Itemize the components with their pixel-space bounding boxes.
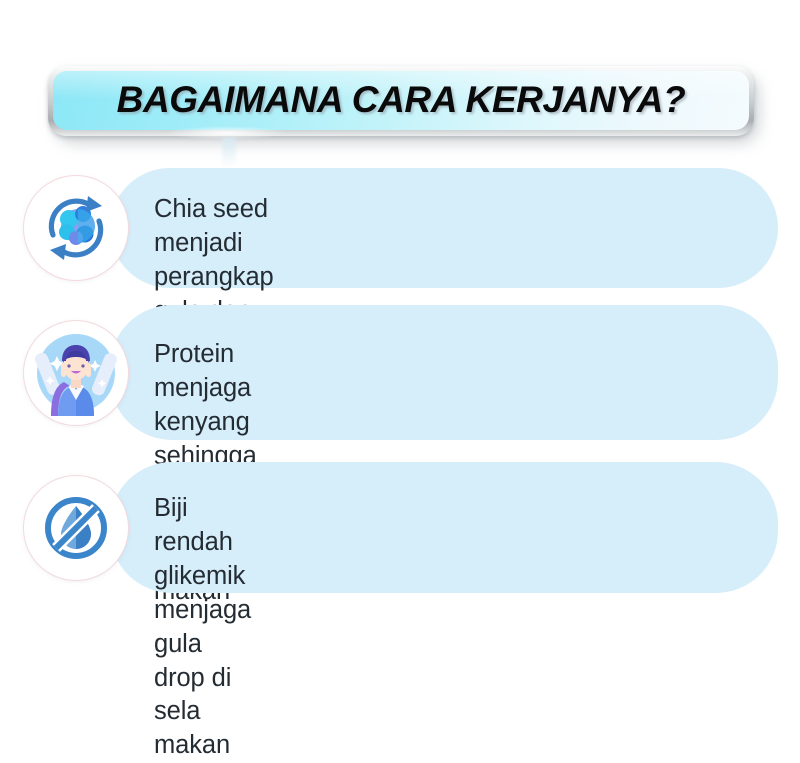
banner-inner-surface: BAGAIMANA CARA KERJANYA? [53, 71, 749, 130]
recycle-cycle-arrows-icon [24, 176, 128, 280]
no-sugar-droplet-icon [24, 476, 128, 580]
page-title: BAGAIMANA CARA KERJANYA? [117, 79, 686, 121]
banner-metallic-frame: BAGAIMANA CARA KERJANYA? [48, 66, 754, 136]
benefit-text: Biji rendah glikemik menjaga gula drop d… [154, 492, 251, 763]
header-banner: BAGAIMANA CARA KERJANYA? [48, 66, 760, 141]
happy-person-arms-raised-icon [24, 321, 128, 425]
